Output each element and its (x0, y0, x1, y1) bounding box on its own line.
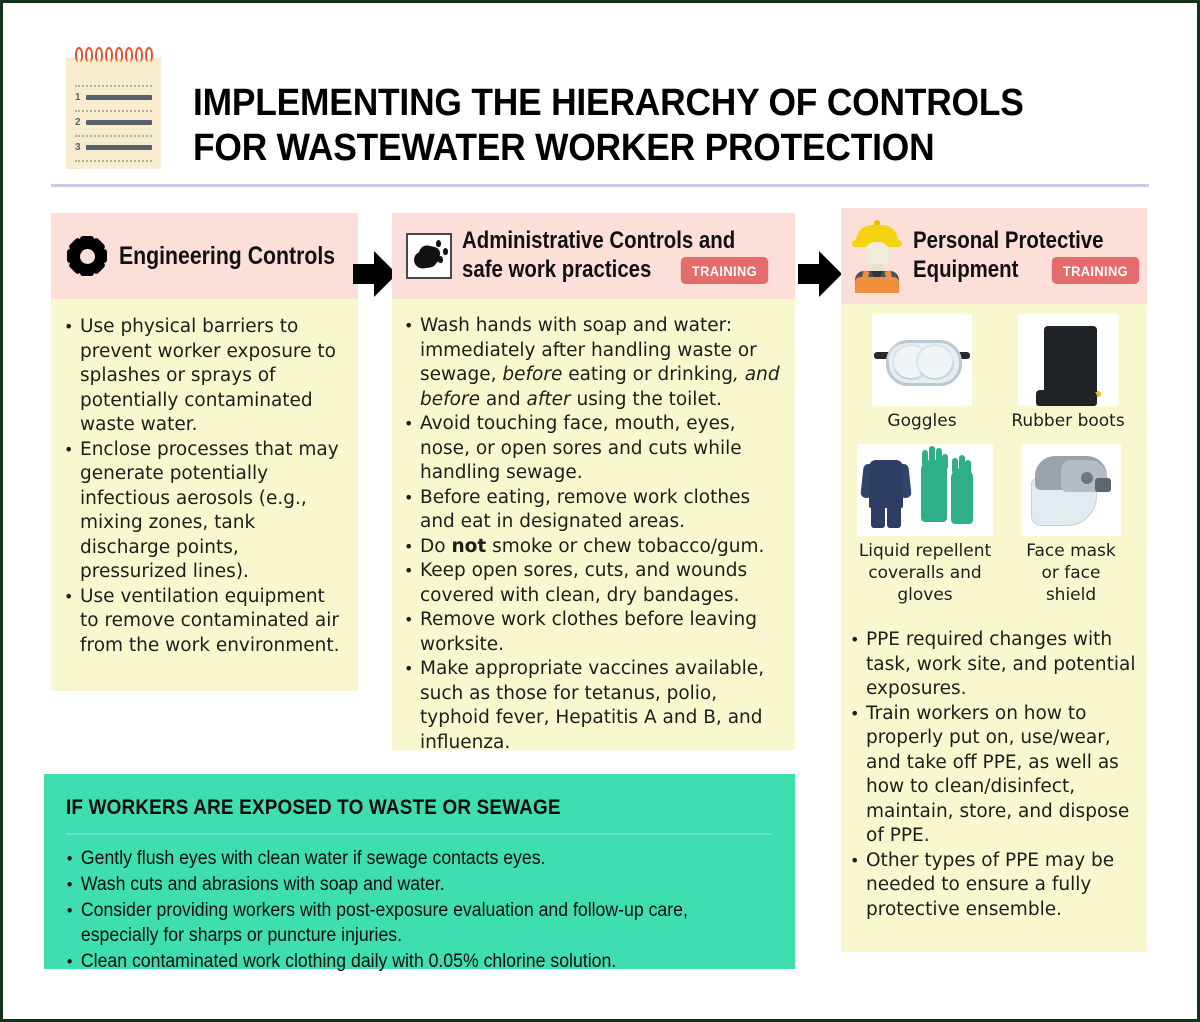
list-item: PPE required changes with task, work sit… (849, 628, 1141, 702)
training-badge-administrative: TRAINING (681, 257, 768, 284)
bullet-text: Remove work clothes before leaving works… (420, 609, 757, 655)
list-item: Wash hands with soap and water: immediat… (403, 314, 783, 412)
ppe-caption-face-shield: Face mask or face shield (1017, 540, 1125, 606)
column-body-administrative: Wash hands with soap and water: immediat… (392, 299, 795, 750)
list-item: Use physical barriers to prevent worker … (63, 315, 344, 438)
notepad-icon: 1 2 3 (66, 46, 161, 169)
bullet-text: smoke or chew tobacco/gum. (486, 536, 764, 557)
bullet-text: Make appropriate vaccines available, suc… (420, 658, 764, 753)
coveralls-gloves-icon (857, 444, 993, 536)
wash-hands-icon (406, 233, 452, 279)
ppe-item-face-shield: Face mask or face shield (1001, 444, 1141, 606)
list-item: Use ventilation equipment to remove cont… (63, 585, 344, 659)
bullet-text: Avoid touching face, mouth, eyes, nose, … (420, 413, 742, 483)
bullet-text: Before eating, remove work clothes and e… (420, 487, 750, 533)
column-body-engineering: Use physical barriers to prevent worker … (51, 299, 358, 691)
exposure-panel-title: IF WORKERS ARE EXPOSED TO WASTE OR SEWAG… (66, 796, 702, 820)
bullet-text: Train workers on how to properly put on,… (866, 703, 1129, 847)
bullet-text: using the toilet. (571, 389, 722, 410)
list-item: Do not smoke or chew tobacco/gum. (403, 535, 783, 560)
bullet-text: Other types of PPE may be needed to ensu… (866, 850, 1114, 920)
notepad-line-bar (86, 145, 152, 150)
bullet-text: PPE required changes with task, work sit… (866, 629, 1136, 699)
column-title-administrative-line-1: Administrative Controls and (462, 227, 735, 255)
bullet-list-ppe: PPE required changes with task, work sit… (849, 628, 1141, 922)
goggles-icon (872, 314, 972, 406)
arrow-right-icon-1 (353, 251, 397, 297)
ppe-caption-coveralls-gloves: Liquid repellent coveralls and gloves (857, 540, 993, 606)
column-title-ppe-line-2: Equipment (913, 255, 1028, 285)
ppe-caption-rubber-boots: Rubber boots (995, 410, 1141, 432)
bullet-text: Use ventilation equipment to remove cont… (80, 586, 340, 656)
column-personal-protective-equipment: Personal Protective Equipment TRAINING (841, 208, 1147, 952)
bullet-list-administrative: Wash hands with soap and water: immediat… (403, 314, 783, 755)
list-item: Before eating, remove work clothes and e… (403, 486, 783, 535)
ppe-image-grid: Goggles Rubber boots (849, 314, 1141, 606)
column-administrative-controls: Administrative Controls and safe work pr… (392, 213, 795, 750)
notepad-line-number: 3 (75, 142, 81, 153)
bullet-list-engineering: Use physical barriers to prevent worker … (63, 315, 344, 658)
list-item: Gently flush eyes with clean water if se… (66, 846, 724, 871)
column-header-ppe: Personal Protective Equipment TRAINING (841, 208, 1147, 304)
page-title-line-1: IMPLEMENTING THE HIERARCHY OF CONTROLS (193, 81, 1095, 126)
exposure-panel-bullet-list: Gently flush eyes with clean water if se… (66, 846, 773, 974)
bullet-text: and (480, 389, 527, 410)
column-title-ppe-line-1: Personal Protective (913, 227, 1108, 255)
column-title-engineering: Engineering Controls (119, 242, 335, 271)
notepad-rows: 1 2 3 (75, 78, 152, 167)
title-divider (51, 184, 1149, 187)
list-item: Train workers on how to properly put on,… (849, 702, 1141, 849)
ppe-item-goggles: Goggles (849, 314, 995, 432)
bullet-text-italic: before (502, 364, 562, 385)
rubber-boots-icon (1018, 314, 1118, 406)
notepad-line-bar (86, 120, 152, 125)
list-item: Wash cuts and abrasions with soap and wa… (66, 872, 724, 897)
list-item: Make appropriate vaccines available, suc… (403, 657, 783, 755)
bullet-text: eating or drinking (562, 364, 733, 385)
list-item: Enclose processes that may generate pote… (63, 438, 344, 585)
ppe-caption-goggles: Goggles (849, 410, 995, 432)
infographic-page: 1 2 3 IMPLEMENTING THE HIERARCHY OF CONT… (0, 0, 1200, 1022)
bullet-text: Do (420, 536, 451, 557)
list-item: Other types of PPE may be needed to ensu… (849, 849, 1141, 923)
notepad-spiral (75, 47, 153, 63)
list-item: Keep open sores, cuts, and wounds covere… (403, 559, 783, 608)
exposure-panel: IF WORKERS ARE EXPOSED TO WASTE OR SEWAG… (44, 774, 795, 969)
training-badge-ppe: TRAINING (1052, 257, 1139, 284)
ppe-item-rubber-boots: Rubber boots (995, 314, 1141, 432)
notepad-line-number: 1 (75, 92, 81, 103)
gear-icon (67, 236, 107, 276)
header: 1 2 3 IMPLEMENTING THE HIERARCHY OF CONT… (3, 3, 1197, 185)
notepad-line-number: 2 (75, 117, 81, 128)
list-item: Avoid touching face, mouth, eyes, nose, … (403, 412, 783, 486)
bullet-text-italic: after (527, 389, 571, 410)
ppe-item-coveralls-gloves: Liquid repellent coveralls and gloves (849, 444, 1001, 606)
bullet-text: Enclose processes that may generate pote… (80, 439, 339, 583)
page-title: IMPLEMENTING THE HIERARCHY OF CONTROLS F… (193, 81, 1095, 171)
column-header-administrative: Administrative Controls and safe work pr… (392, 213, 795, 299)
exposure-panel-divider (66, 833, 773, 835)
list-item: Consider providing workers with post-exp… (66, 898, 724, 948)
bullet-text: Use physical barriers to prevent worker … (80, 316, 336, 435)
worker-hardhat-icon (849, 219, 905, 293)
notepad-line-bar (86, 95, 152, 100)
list-item: Remove work clothes before leaving works… (403, 608, 783, 657)
face-shield-icon (1021, 444, 1121, 536)
column-title-administrative-line-2: safe work practices (462, 255, 645, 285)
bullet-text-bold: not (451, 536, 486, 557)
column-engineering-controls: Engineering Controls Use physical barrie… (51, 213, 358, 691)
page-title-line-2: FOR WASTEWATER WORKER PROTECTION (193, 126, 1095, 171)
bullet-text: Keep open sores, cuts, and wounds covere… (420, 560, 747, 606)
list-item: Clean contaminated work clothing daily w… (66, 949, 724, 974)
column-body-ppe: Goggles Rubber boots (841, 304, 1147, 952)
column-header-engineering: Engineering Controls (51, 213, 358, 299)
arrow-right-icon-2 (798, 251, 842, 297)
